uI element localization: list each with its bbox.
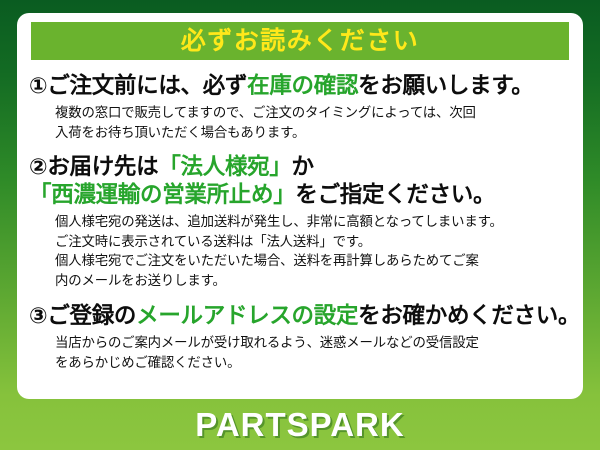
notice-item-3-heading-highlight: メールアドレスの設定 [136,303,358,328]
notice-item-1-heading-part-1: ご注文前には、必ず [47,73,247,98]
notice-item-1-number: ① [29,73,47,98]
notice-item-2-heading-highlight-2: 「西濃運輸の営業所止め」 [29,182,295,207]
notice-item-2-heading-part-1: お届け先は [47,154,158,179]
notice-card: 必ずお読みください ①ご注文前には、必ず在庫の確認をお願いします。 複数の窓口で… [17,13,583,399]
notice-item-3: ③ご登録のメールアドレスの設定をお確かめください。 当店からのご案内メールが受け… [29,302,573,372]
notice-item-1-heading-part-3: をお願いします。 [358,73,533,98]
notice-item-2-detail-line-4: 内のメールをお送りします。 [55,271,573,291]
notice-item-1-detail-line-2: 入荷をお待ち頂いただく場合もあります。 [55,123,573,143]
notice-banner: 必ずお読みください ①ご注文前には、必ず在庫の確認をお願いします。 複数の窓口で… [0,0,600,450]
notice-item-2: ②お届け先は「法人様宛」か「西濃運輸の営業所止め」をご指定ください。 個人様宅宛… [29,153,573,291]
brand-logo-text: PARTSPARK [195,406,404,444]
notice-item-2-detail-line-1: 個人様宅宛の発送は、追加送料が発生し、非常に高額となってしまいます。 [55,212,573,232]
notice-item-2-heading-highlight-1: 「法人様宛」 [158,154,291,179]
notice-item-2-heading-part-5: をご指定ください。 [295,182,495,207]
notice-item-3-detail: 当店からのご案内メールが受け取れるよう、迷惑メールなどの受信設定 をあらかじめご… [29,333,573,373]
notice-item-1-heading: ①ご注文前には、必ず在庫の確認をお願いします。 [29,72,573,100]
notice-item-1-heading-highlight: 在庫の確認 [247,73,358,98]
notice-item-3-heading: ③ご登録のメールアドレスの設定をお確かめください。 [29,302,573,330]
notice-item-2-detail-line-2: ご注文時に表示されている送料は「法人送料」です。 [55,232,573,252]
header-bar: 必ずお読みください [31,22,569,60]
notice-item-1: ①ご注文前には、必ず在庫の確認をお願いします。 複数の窓口で販売してますので、ご… [29,72,573,142]
notice-item-3-heading-part-3: をお確かめください。 [358,303,580,328]
notice-item-1-detail-line-1: 複数の窓口で販売してますので、ご注文のタイミングによっては、次回 [55,103,573,123]
notice-item-3-heading-part-1: ご登録の [47,303,136,328]
notice-item-3-detail-line-2: をあらかじめご確認ください。 [55,353,573,373]
notice-item-2-heading: ②お届け先は「法人様宛」か「西濃運輸の営業所止め」をご指定ください。 [29,153,573,208]
notice-item-3-detail-line-1: 当店からのご案内メールが受け取れるよう、迷惑メールなどの受信設定 [55,333,573,353]
notice-item-2-detail: 個人様宅宛の発送は、追加送料が発生し、非常に高額となってしまいます。 ご注文時に… [29,212,573,291]
notice-item-2-detail-line-3: 個人様宅宛でご注文をいただいた場合、送料を再計算しあらためてご案 [55,251,573,271]
notice-item-2-heading-part-3: か [292,154,314,179]
notice-item-1-detail: 複数の窓口で販売してますので、ご注文のタイミングによっては、次回 入荷をお待ち頂… [29,103,573,143]
page-title: 必ずお読みください [181,29,420,54]
notice-item-3-number: ③ [29,303,47,328]
notice-items: ①ご注文前には、必ず在庫の確認をお願いします。 複数の窓口で販売してますので、ご… [17,72,583,373]
footer: PARTSPARK [0,399,600,450]
notice-item-2-number: ② [29,154,47,179]
